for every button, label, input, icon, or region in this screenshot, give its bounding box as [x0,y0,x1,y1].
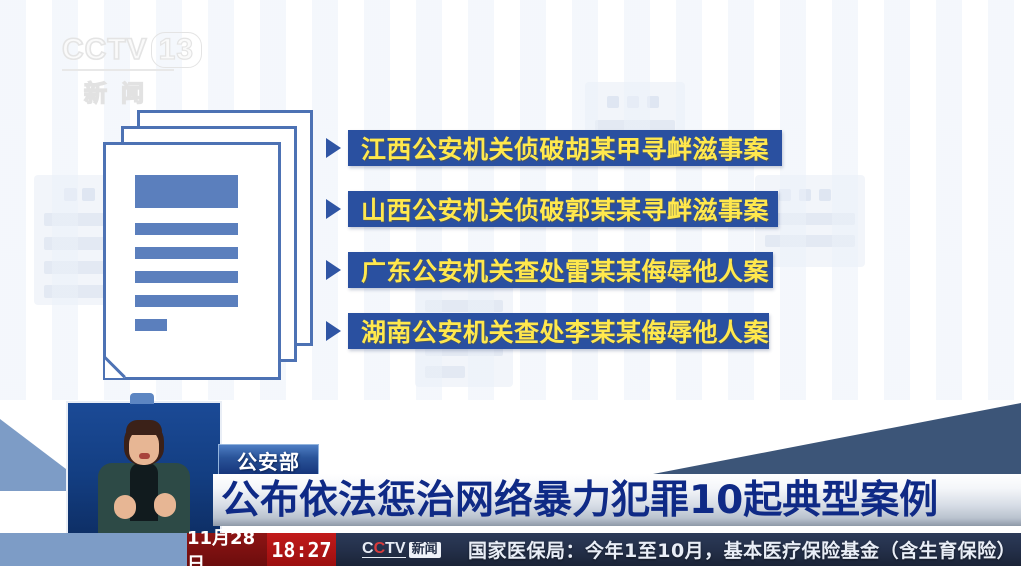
ticker-date: 11月28日 [187,533,267,566]
cctv-logo-number: 13 [151,32,202,68]
document-line [135,295,238,307]
list-item[interactable]: 山西公安机关侦破郭某某寻衅滋事案 [348,191,778,227]
list-item-label: 江西公安机关侦破胡某甲寻衅滋事案 [348,130,769,166]
document-stack-icon [103,142,281,380]
ticker-text-container: 国家医保局：今年1至10月，基本医疗保险基金（含生育保险） [468,533,1016,566]
list-arrow-icon [326,138,341,158]
source-badge: 公安部 [218,444,319,476]
list-arrow-icon [326,321,341,341]
ticker-date-label: 11月28日 [187,524,267,566]
interpreter-hand-left [114,495,136,519]
list-item-label: 广东公安机关查处雷某某侮辱他人案 [348,252,769,288]
document-line [135,271,238,283]
ticker-cctv-red-c: C [374,540,386,557]
cctv-logo-underline [62,69,174,71]
headline-bar: 公布依法惩治网络暴力犯罪10起典型案例 [213,474,1021,526]
ticker-time-label: 18:27 [271,538,331,562]
list-item[interactable]: 湖南公安机关查处李某某侮辱他人案 [348,313,769,349]
ticker-cctv-news-logo: CCTV 新闻 [362,539,441,560]
cctv-logo-text: CCTV [62,33,148,66]
interpreter-fringe [126,420,162,435]
sign-language-interpreter-video [66,401,222,536]
list-arrow-icon [326,199,341,219]
cctv13-channel-logo: CCTV13 新闻 [62,32,207,92]
ticker-time: 18:27 [267,533,336,566]
interpreter-mouth [139,453,150,459]
document-header-block [135,175,238,208]
ticker-cctv-mark: CCTV [362,541,406,558]
video-mount-tab [130,393,154,404]
list-item-label: 湖南公安机关查处李某某侮辱他人案 [348,313,769,349]
list-item[interactable]: 广东公安机关查处雷某某侮辱他人案 [348,252,773,288]
document-line [135,247,238,259]
list-item[interactable]: 江西公安机关侦破胡某甲寻衅滋事案 [348,130,782,166]
list-item-label: 山西公安机关侦破郭某某寻衅滋事案 [348,191,769,227]
ticker-left-block [0,533,187,566]
ticker-news-mark: 新闻 [409,542,441,558]
list-arrow-icon [326,260,341,280]
broadcast-screen: CCTV13 新闻 江西公安机关侦破胡某甲寻衅滋事案 山西公安机关侦破郭某某寻衅… [0,0,1021,566]
interpreter-hand-right [154,493,176,517]
source-badge-label: 公安部 [237,446,300,475]
ticker-headline: 国家医保局：今年1至10月，基本医疗保险基金（含生育保险） [468,536,1016,563]
document-line-short [135,319,167,331]
document-line [135,223,238,235]
headline-text: 公布依法惩治网络暴力犯罪10起典型案例 [213,481,938,520]
cctv-logo-sub: 新闻 [84,74,207,108]
news-ticker: 11月28日 18:27 CCTV 新闻 国家医保局：今年1至10月，基本医疗保… [0,533,1021,566]
